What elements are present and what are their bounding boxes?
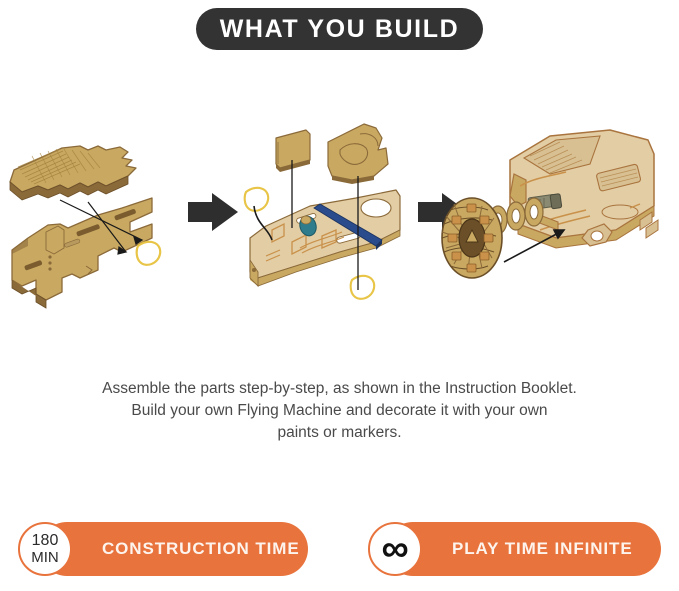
right-arrow-icon [188, 193, 238, 231]
assembled-machine [510, 130, 658, 248]
step-2-illustration [236, 120, 421, 320]
build-steps-row [0, 120, 679, 330]
chassis-body [250, 190, 400, 286]
page-title: WHAT YOU BUILD [220, 15, 460, 44]
rubber-band [137, 242, 161, 265]
badge-construction-bar: CONSTRUCTION TIME [40, 522, 308, 576]
step-3-turbine-mount [440, 120, 679, 320]
shaped-top-panel-part [328, 124, 388, 184]
infinity-icon: ∞ [381, 534, 408, 564]
badge-play-label: PLAY TIME INFINITE [452, 539, 633, 559]
construction-time-value: 180 [32, 532, 59, 549]
badge-play-time: PLAY TIME INFINITE ∞ [368, 522, 661, 576]
badge-construction-time: CONSTRUCTION TIME 180 MIN [18, 522, 308, 576]
step-3-illustration [440, 120, 679, 320]
badge-construction-label: CONSTRUCTION TIME [102, 539, 300, 559]
step-2-chassis-assembly [236, 120, 421, 320]
badge-construction-circle: 180 MIN [18, 522, 72, 576]
ribbed-panel [10, 146, 136, 200]
step-arrow-1 [186, 190, 241, 235]
step-1-frame-and-panel [2, 120, 182, 320]
body-frame [12, 198, 152, 308]
badge-play-circle: ∞ [368, 522, 422, 576]
turbine-wheel [442, 198, 502, 278]
info-badges-row: CONSTRUCTION TIME 180 MIN PLAY TIME INFI… [0, 515, 679, 583]
step-1-illustration [2, 120, 182, 320]
side-panel-part [276, 130, 310, 172]
description-line-3: paints or markers. [0, 422, 679, 444]
construction-time-unit: MIN [31, 549, 59, 566]
description-line-1: Assemble the parts step-by-step, as show… [0, 378, 679, 400]
description-text: Assemble the parts step-by-step, as show… [0, 378, 679, 444]
page-title-badge: WHAT YOU BUILD [196, 8, 483, 50]
description-line-2: Build your own Flying Machine and decora… [0, 400, 679, 422]
badge-play-bar: PLAY TIME INFINITE [386, 522, 661, 576]
